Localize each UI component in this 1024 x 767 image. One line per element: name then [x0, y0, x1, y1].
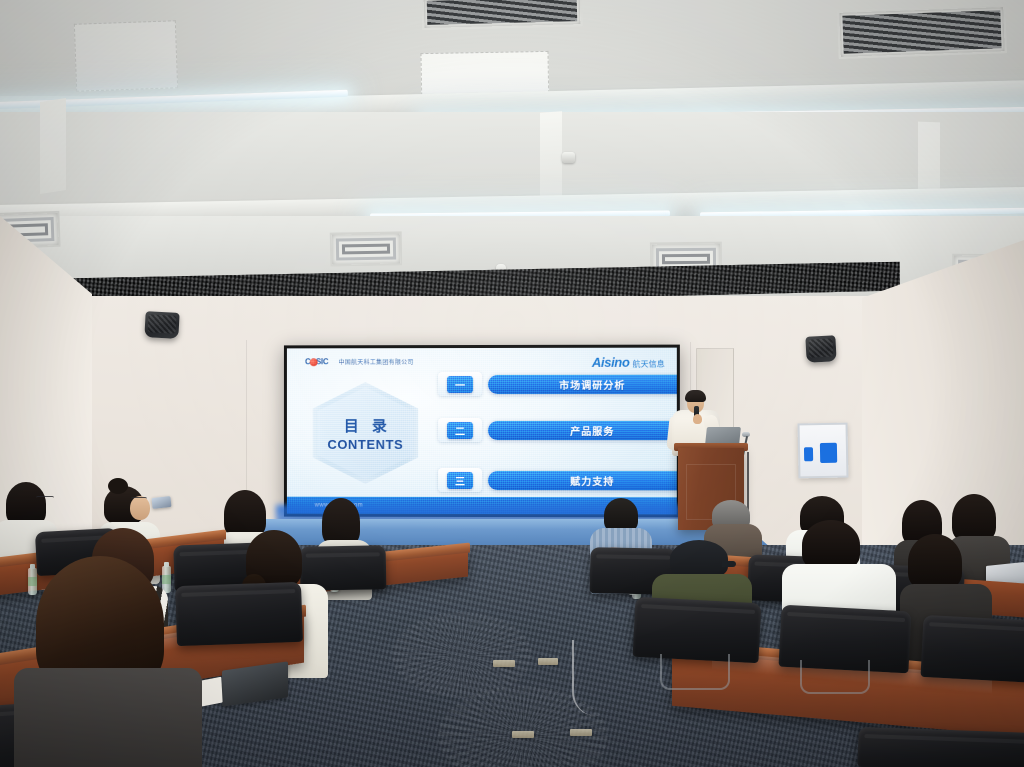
smoke-detector-icon	[562, 152, 575, 163]
chair-leg-front-right	[660, 654, 730, 690]
chair-front-center[interactable]	[175, 582, 303, 646]
attendee-11b-hair	[908, 534, 962, 590]
casic-logo: CASIC 中国航天科工集团有限公司	[299, 356, 414, 367]
ceiling-beam-vertical-left	[40, 98, 66, 194]
slide-item-2-label: 产品服务	[488, 420, 677, 439]
attendee-7-hair	[604, 498, 638, 532]
slide-item-1-number: 一	[447, 376, 473, 393]
floor-outlet-cover-3	[512, 731, 534, 738]
wall-speaker-left	[144, 311, 179, 339]
slide-item-3-number: 三	[447, 471, 473, 488]
attendee-12-hair	[952, 494, 996, 542]
aisino-name-en: Aisino	[592, 355, 630, 370]
presenter-hand	[693, 414, 702, 424]
attendee-2-glasses-icon	[131, 497, 147, 502]
slide-item-2-plate: 二	[438, 418, 482, 442]
contents-heading: 目 录 CONTENTS	[313, 382, 418, 484]
ceiling-beam-vertical-mid	[540, 111, 562, 209]
water-bottle-1[interactable]	[28, 568, 37, 595]
casic-company-name: 中国航天科工集团有限公司	[339, 357, 414, 366]
slide-item-2-number: 二	[447, 422, 473, 439]
wall-display-chip-main	[820, 443, 837, 463]
led-video-wall[interactable]: CASIC 中国航天科工集团有限公司 Aisino 航天信息 目 录 CONTE…	[284, 345, 680, 518]
slide-item-2[interactable]: 二 产品服务	[438, 418, 677, 442]
attendee-10b-hair	[802, 520, 860, 570]
slide-item-3-plate: 三	[438, 468, 482, 492]
attendee-2-bun	[108, 478, 128, 494]
attendee-4-body	[14, 668, 202, 767]
ceiling-panel-left	[74, 20, 178, 92]
conference-room-scene: CASIC 中国航天科工集团有限公司 Aisino 航天信息 目 录 CONTE…	[0, 0, 1024, 767]
casic-mark-icon: CASIC	[299, 356, 335, 367]
carpet-pattern-burst-1	[392, 612, 532, 698]
wall-speaker-right	[805, 335, 836, 363]
attendee-6-hair	[322, 498, 360, 546]
floor-outlet-cover-1	[493, 660, 515, 667]
chair-bottom-right[interactable]	[857, 727, 1024, 767]
attendee-1-glasses-icon	[36, 496, 54, 501]
chair-leg-mid-right	[800, 660, 870, 694]
floor-outlet-cover-2	[538, 658, 558, 665]
slide-item-1-label: 市场调研分析	[488, 374, 677, 393]
slide-item-1[interactable]: 一 市场调研分析	[438, 372, 677, 396]
presentation-slide: CASIC 中国航天科工集团有限公司 Aisino 航天信息 目 录 CONTE…	[287, 348, 677, 515]
slide-item-3-label: 赋力支持	[488, 471, 677, 490]
floor-cable	[572, 640, 596, 716]
aisino-logo: Aisino 航天信息	[592, 355, 665, 370]
attendee-5-hair	[224, 490, 266, 538]
slide-item-3[interactable]: 三 赋力支持	[438, 468, 677, 492]
chair-front-right-c[interactable]	[920, 615, 1024, 683]
aisino-name-cn: 航天信息	[632, 359, 664, 370]
slide-item-1-plate: 一	[438, 372, 482, 396]
air-diffuser-center	[330, 231, 403, 266]
presenter-hair	[685, 390, 706, 402]
hvac-grille-top-right	[837, 5, 1007, 59]
wall-display-panel[interactable]	[798, 423, 849, 479]
wall-display-chip-left	[804, 447, 813, 461]
contents-heading-en: CONTENTS	[327, 436, 403, 451]
casic-red-dot-icon	[310, 358, 318, 366]
attendee-9-cap	[670, 540, 728, 578]
floor-outlet-cover-4	[570, 729, 592, 736]
contents-heading-cn: 目 录	[340, 415, 391, 436]
attendee-2-phone-camera[interactable]	[151, 496, 171, 509]
hvac-grille-top-center	[422, 0, 583, 30]
